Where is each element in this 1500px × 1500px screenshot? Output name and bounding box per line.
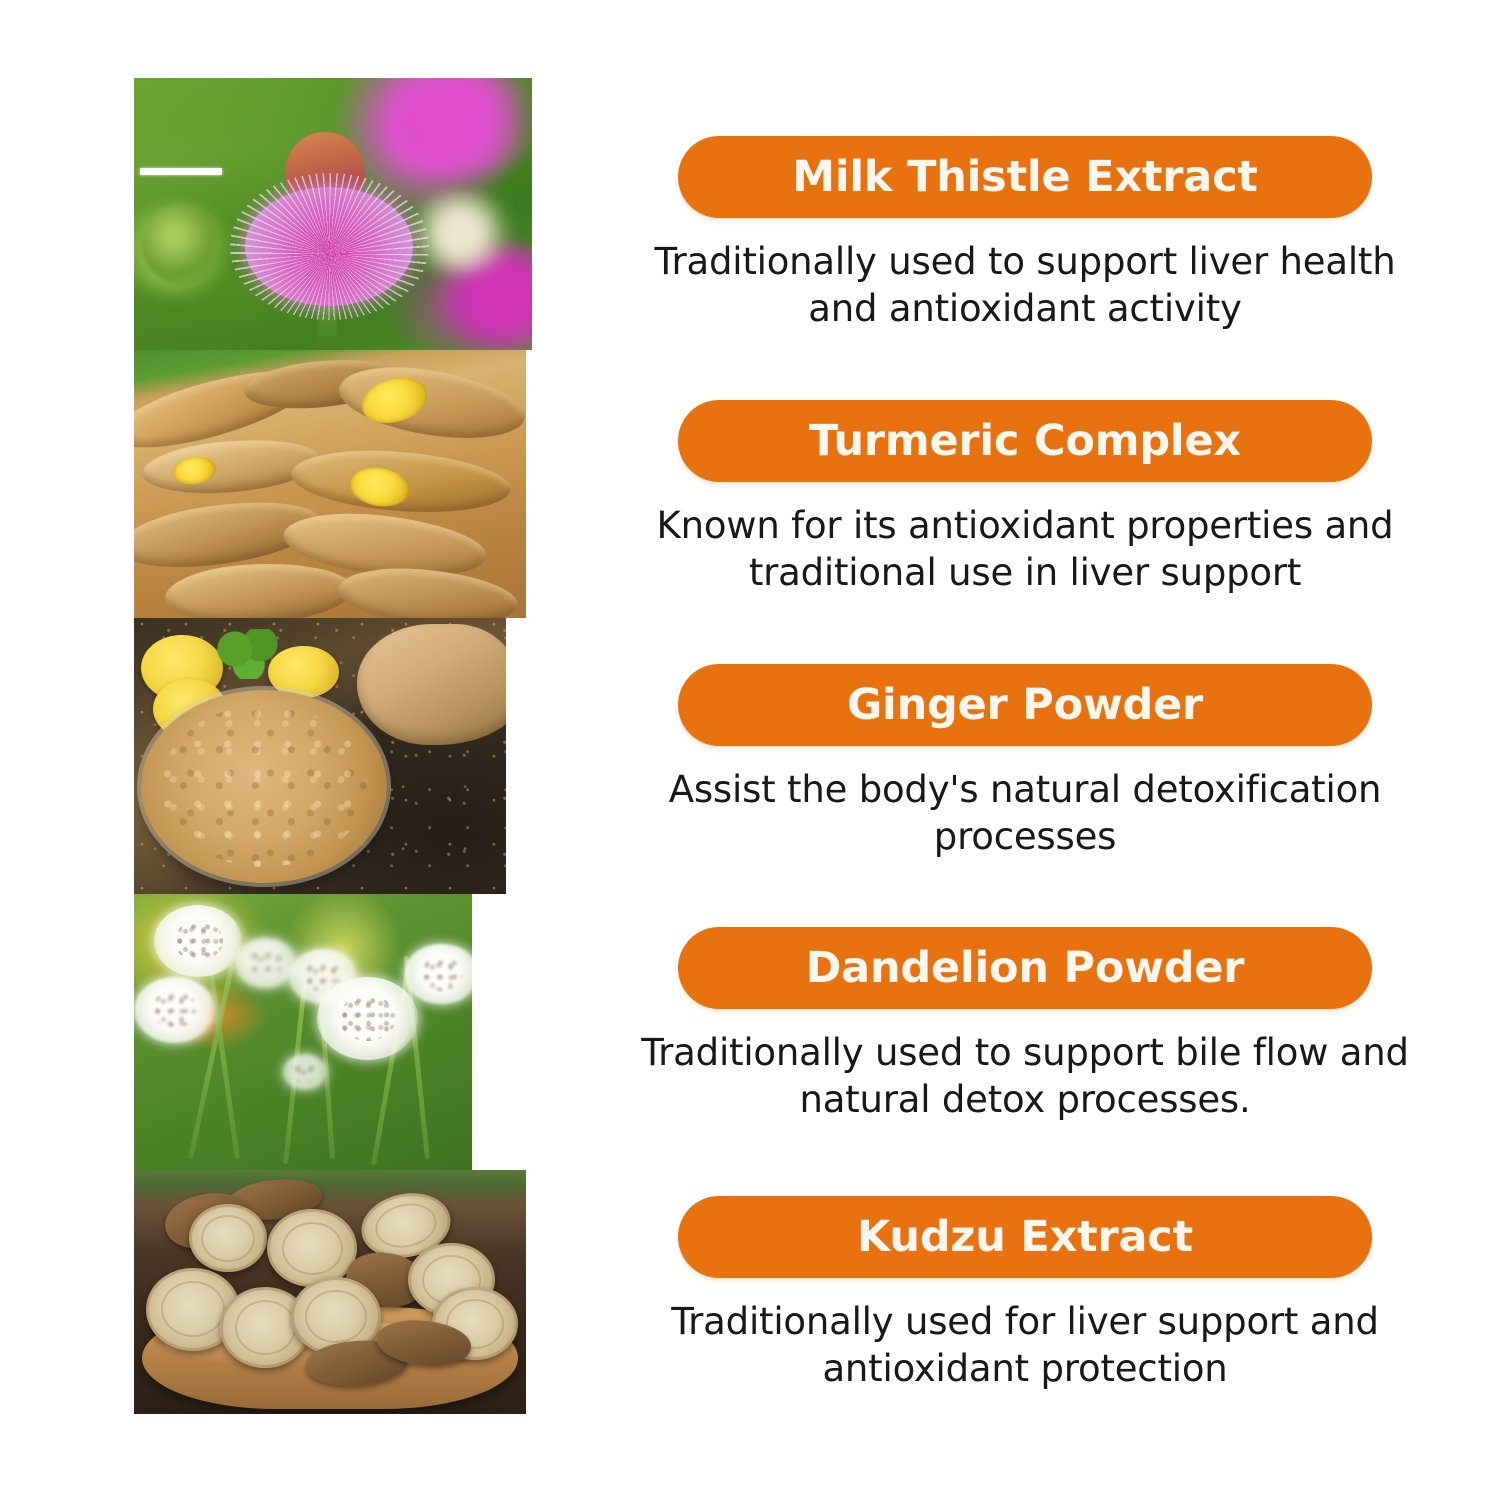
photo-ginger-powder: [134, 618, 506, 894]
ingredient-photo-strip: [134, 78, 526, 1414]
photo-turmeric: [134, 350, 526, 618]
photo-milk-thistle: [134, 78, 532, 350]
photo-dandelion: [134, 894, 472, 1170]
ingredient-name-badge: Ginger Powder: [678, 664, 1372, 746]
ingredient-name-badge: Kudzu Extract: [678, 1196, 1372, 1278]
ingredient-item-milk-thistle-extract: Milk Thistle Extract Traditionally used …: [630, 136, 1420, 333]
kudzu-slice: [267, 1209, 357, 1287]
ingredient-name-badge: Turmeric Complex: [678, 400, 1372, 482]
dandelion-seed-head: [235, 938, 296, 988]
ingredient-name-badge: Dandelion Powder: [678, 927, 1372, 1009]
ingredient-list: Milk Thistle Extract Traditionally used …: [630, 0, 1420, 1500]
ingredient-infographic: Milk Thistle Extract Traditionally used …: [0, 0, 1500, 1500]
ingredient-item-kudzu-extract: Kudzu Extract Traditionally used for liv…: [630, 1196, 1420, 1393]
ingredient-item-ginger-powder: Ginger Powder Assist the body's natural …: [630, 664, 1420, 861]
ingredient-name-badge: Milk Thistle Extract: [678, 136, 1372, 218]
dandelion-seed-head: [404, 944, 472, 1005]
dandelion-seed-head: [317, 977, 418, 1060]
thistle-leaf-bud: [142, 203, 222, 285]
ingredient-item-dandelion-powder: Dandelion Powder Traditionally used to s…: [630, 927, 1420, 1124]
dandelion-seed-head: [134, 977, 215, 1043]
ingredient-name-label: Turmeric Complex: [809, 420, 1241, 463]
ingredient-item-turmeric-complex: Turmeric Complex Known for its antioxida…: [630, 400, 1420, 597]
ingredient-name-label: Ginger Powder: [847, 684, 1203, 727]
ingredient-description: Assist the body's natural detoxification…: [630, 767, 1420, 861]
ingredient-description: Known for its antioxidant properties and…: [630, 503, 1420, 597]
ingredient-name-label: Dandelion Powder: [806, 947, 1245, 990]
ginger-powder-bowl: [141, 690, 387, 883]
ingredient-description: Traditionally used to support liver heal…: [630, 239, 1420, 333]
parsley-leaf: [216, 629, 279, 679]
ingredient-description: Traditionally used to support bile flow …: [630, 1030, 1420, 1124]
dandelion-seed-head: [283, 1054, 327, 1090]
ingredient-name-label: Milk Thistle Extract: [792, 156, 1257, 199]
thistle-flower-filaments: [230, 173, 429, 320]
dandelion-seed-head: [154, 905, 242, 977]
white-accent-line: [140, 168, 222, 175]
ingredient-description: Traditionally used for liver support and…: [630, 1299, 1420, 1393]
photo-kudzu-root: [134, 1170, 526, 1414]
ingredient-name-label: Kudzu Extract: [857, 1216, 1193, 1259]
ginger-rhizome: [357, 624, 506, 745]
